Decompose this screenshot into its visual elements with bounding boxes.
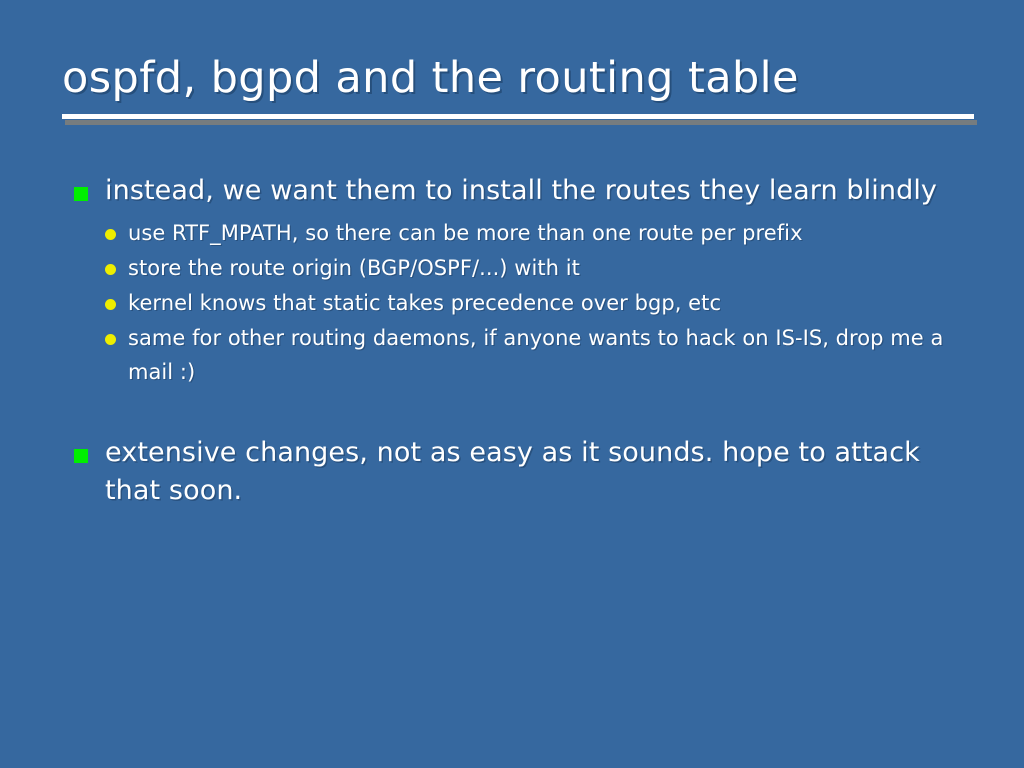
bullet-level1-label: instead, we want them to install the rou… — [105, 175, 937, 206]
page-title: ospfd, bgpd and the routing table — [62, 52, 974, 104]
yellow-dot-bullet-icon — [105, 264, 116, 275]
green-square-bullet-icon — [74, 187, 88, 201]
slide-body: instead, we want them to install the rou… — [74, 172, 979, 512]
yellow-dot-bullet-icon — [105, 229, 116, 240]
presentation-slide: ospfd, bgpd and the routing table instea… — [0, 0, 1024, 768]
bullet-spacer — [74, 390, 979, 434]
bullet-level2-label: store the route origin (BGP/OSPF/...) wi… — [128, 256, 580, 280]
yellow-dot-bullet-icon — [105, 299, 116, 310]
green-square-bullet-icon — [74, 449, 88, 463]
bullet-level2: kernel knows that static takes precedenc… — [105, 286, 979, 320]
bullet-level1: instead, we want them to install the rou… — [74, 172, 979, 210]
title-rule — [62, 114, 974, 119]
bullet-level2-label: same for other routing daemons, if anyon… — [128, 326, 943, 384]
sub-bullet-group: use RTF_MPATH, so there can be more than… — [105, 216, 979, 389]
bullet-level2-label: use RTF_MPATH, so there can be more than… — [128, 221, 803, 245]
slide-title-block: ospfd, bgpd and the routing table — [62, 52, 974, 104]
bullet-level2: same for other routing daemons, if anyon… — [105, 321, 979, 389]
bullet-level1-label: extensive changes, not as easy as it sou… — [105, 437, 920, 506]
title-rule-shadow — [65, 120, 977, 125]
bullet-level2: store the route origin (BGP/OSPF/...) wi… — [105, 251, 979, 285]
bullet-level1: extensive changes, not as easy as it sou… — [74, 434, 979, 510]
bullet-level2-label: kernel knows that static takes precedenc… — [128, 291, 721, 315]
bullet-level2: use RTF_MPATH, so there can be more than… — [105, 216, 979, 250]
yellow-dot-bullet-icon — [105, 334, 116, 345]
